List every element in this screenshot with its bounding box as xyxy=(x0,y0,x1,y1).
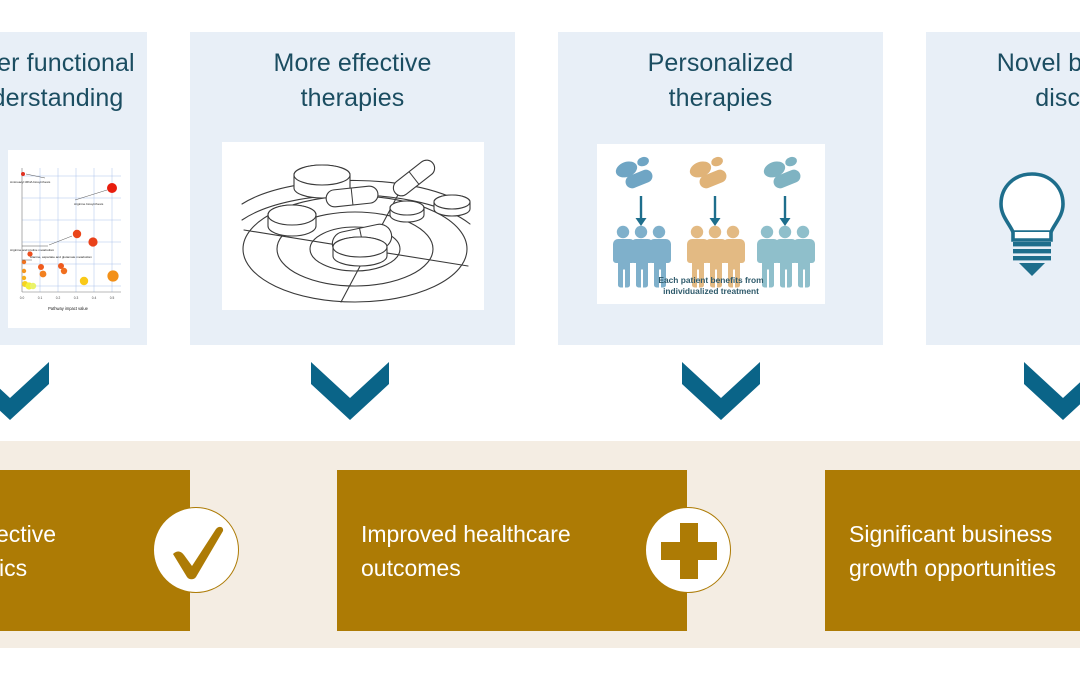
plus-icon xyxy=(645,507,731,593)
svg-text:Arginine and proline metabolis: Arginine and proline metabolism xyxy=(10,248,55,252)
svg-text:0.2: 0.2 xyxy=(56,296,61,300)
patient-groups-diagram: Each patient benefits from individualize… xyxy=(597,144,825,304)
flow-chevron-3 xyxy=(682,362,760,420)
lightbulb-group xyxy=(958,142,1080,310)
svg-text:Alanine, aspartate and glutama: Alanine, aspartate and glutamate metabol… xyxy=(30,255,93,259)
outcome-label: Significant business growth opportunitie… xyxy=(849,517,1056,585)
benefit-card-title: Better functional understanding xyxy=(0,46,147,116)
svg-text:0.0: 0.0 xyxy=(20,296,25,300)
scatter-plot-canvas: Aminoacyl tRNA biosynthesis Arginine bio… xyxy=(8,150,130,328)
svg-text:Pathway impact value: Pathway impact value xyxy=(48,306,89,311)
flow-chevron-1 xyxy=(0,362,49,420)
benefit-card-functional-understanding[interactable]: Better functional understanding xyxy=(0,32,147,345)
outcome-label: Improved healthcare outcomes xyxy=(361,517,571,585)
svg-text:0.4: 0.4 xyxy=(92,296,97,300)
svg-text:0.1: 0.1 xyxy=(38,296,43,300)
outcome-box-business-growth[interactable]: Significant business growth opportunitie… xyxy=(825,470,1080,631)
outcome-box-improved-healthcare-outcomes[interactable]: Improved healthcare outcomes xyxy=(337,470,687,631)
benefit-card-title: Novel biomarker discovery xyxy=(926,46,1080,116)
benefit-card-title: Personalized therapies xyxy=(558,46,883,116)
benefit-card-more-effective-therapies[interactable]: More effective therapies xyxy=(190,32,515,345)
svg-text:Aminoacyl tRNA biosynthesis: Aminoacyl tRNA biosynthesis xyxy=(10,180,51,184)
flow-chevron-2 xyxy=(311,362,389,420)
flow-chevron-4 xyxy=(1024,362,1080,420)
svg-text:0.3: 0.3 xyxy=(74,296,79,300)
pathway-impact-scatter-plot: Aminoacyl tRNA biosynthesis Arginine bio… xyxy=(8,150,130,328)
benefit-card-title: More effective therapies xyxy=(190,46,515,116)
benefit-card-novel-biomarker-discovery[interactable]: Novel biomarker discovery xyxy=(926,32,1080,345)
svg-text:0.5: 0.5 xyxy=(110,296,115,300)
check-icon xyxy=(153,507,239,593)
two-lightbulbs-icon xyxy=(958,142,1080,310)
infographic-root: Better functional understanding xyxy=(0,0,1080,675)
pills-on-target-line-drawing xyxy=(222,142,484,310)
benefit-card-personalized-therapies[interactable]: Personalized therapies xyxy=(558,32,883,345)
outcome-label: More effective diagnostics xyxy=(0,517,56,585)
figure-caption: Each patient benefits from individualize… xyxy=(597,275,825,297)
svg-text:Arginine biosynthesis: Arginine biosynthesis xyxy=(74,202,104,206)
